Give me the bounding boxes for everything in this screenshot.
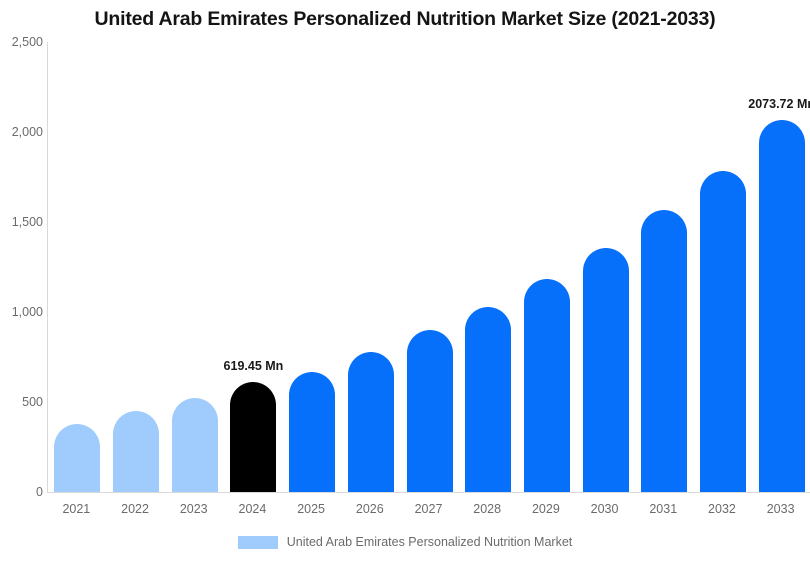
legend-swatch-icon	[238, 536, 278, 549]
y-axis: 05001,0001,5002,0002,500	[0, 0, 43, 562]
bar-group	[407, 42, 453, 493]
bar-group	[700, 42, 746, 493]
plot-area: 619.45 Mn2073.72 Mn	[47, 42, 810, 493]
x-axis-tick-label-2022: 2022	[107, 500, 163, 518]
x-axis-tick-label-2028: 2028	[459, 500, 515, 518]
bar-value-label-2024: 619.45 Mn	[224, 359, 284, 373]
x-axis-tick-label-2029: 2029	[518, 500, 574, 518]
bar-2033[interactable]	[759, 120, 805, 493]
x-axis-tick-label-2027: 2027	[401, 500, 457, 518]
chart-container: United Arab Emirates Personalized Nutrit…	[0, 0, 810, 562]
x-axis-line	[47, 492, 810, 493]
bar-group	[113, 42, 159, 493]
bar-value-label-2033: 2073.72 Mn	[748, 97, 810, 111]
bar-group	[172, 42, 218, 493]
y-axis-tick-label: 2,000	[3, 126, 43, 139]
bar-group	[641, 42, 687, 493]
bar-group	[348, 42, 394, 493]
bar-2032[interactable]	[700, 171, 746, 493]
x-axis-tick-label-2021: 2021	[48, 500, 104, 518]
x-axis-tick-label-2023: 2023	[166, 500, 222, 518]
x-axis-tick-label-2033: 2033	[753, 500, 809, 518]
x-axis-tick-label-2031: 2031	[635, 500, 691, 518]
x-axis-tick-label-2030: 2030	[577, 500, 633, 518]
x-axis: 2021202220232024202520262027202820292030…	[47, 500, 810, 522]
y-axis-tick-label: 1,000	[3, 306, 43, 319]
x-axis-tick-label-2025: 2025	[283, 500, 339, 518]
bar-group: 619.45 Mn	[230, 42, 276, 493]
x-axis-tick-label-2032: 2032	[694, 500, 750, 518]
bar-group	[289, 42, 335, 493]
chart-title: United Arab Emirates Personalized Nutrit…	[0, 8, 810, 31]
bar-2030[interactable]	[583, 248, 629, 493]
bar-group	[54, 42, 100, 493]
y-axis-tick-label: 1,500	[3, 216, 43, 229]
x-axis-tick-label-2024: 2024	[224, 500, 280, 518]
bar-group	[465, 42, 511, 493]
bar-2022[interactable]	[113, 411, 159, 493]
bar-2026[interactable]	[348, 352, 394, 493]
bar-2023[interactable]	[172, 398, 218, 493]
bar-group	[524, 42, 570, 493]
chart-legend: United Arab Emirates Personalized Nutrit…	[0, 535, 810, 549]
bar-2025[interactable]	[289, 372, 335, 493]
bar-2024[interactable]	[230, 382, 276, 494]
bar-2021[interactable]	[54, 424, 100, 493]
y-axis-tick-label: 0	[3, 486, 43, 499]
x-axis-tick-label-2026: 2026	[342, 500, 398, 518]
bar-2031[interactable]	[641, 210, 687, 493]
bar-2028[interactable]	[465, 307, 511, 493]
y-axis-tick-label: 2,500	[3, 36, 43, 49]
bar-2027[interactable]	[407, 330, 453, 493]
legend-label: United Arab Emirates Personalized Nutrit…	[287, 535, 573, 549]
y-axis-tick-label: 500	[3, 396, 43, 409]
bar-group: 2073.72 Mn	[759, 42, 805, 493]
bar-2029[interactable]	[524, 279, 570, 493]
bar-group	[583, 42, 629, 493]
